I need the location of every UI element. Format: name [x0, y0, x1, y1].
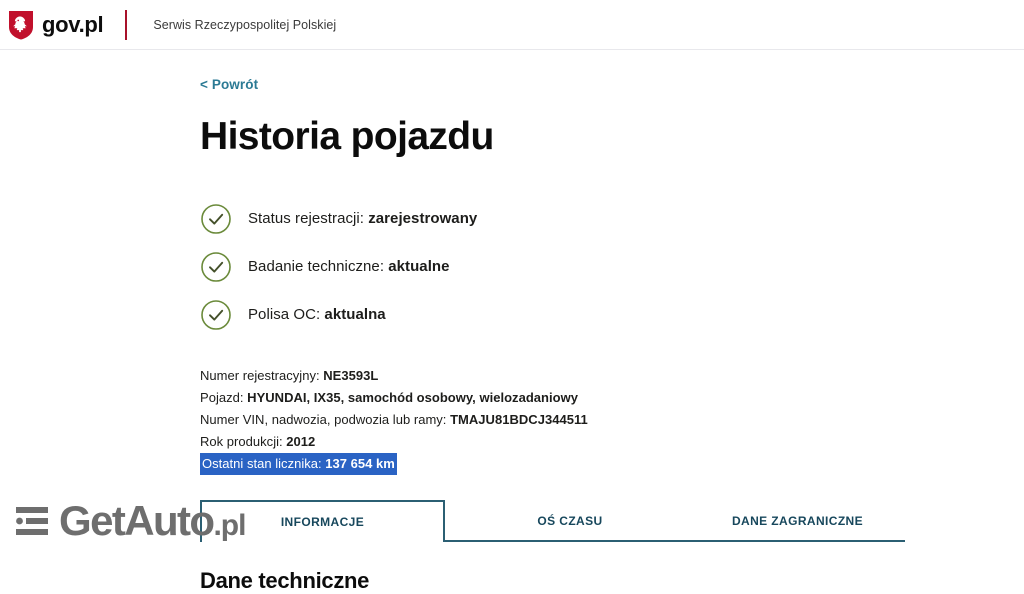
status-label: Polisa OC: — [248, 306, 320, 323]
tab-dane-zagraniczne[interactable]: DANE ZAGRANICZNE — [690, 500, 905, 542]
detail-label: Pojazd: — [200, 390, 244, 405]
gov-header: gov.pl Serwis Rzeczypospolitej Polskiej — [0, 0, 1024, 50]
detail-line-wrap: Pojazd: HYUNDAI, IX35, samochód osobowy,… — [200, 387, 1024, 409]
check-circle-icon — [200, 299, 232, 331]
check-circle-icon — [200, 251, 232, 283]
detail-line: Rok produkcji: 2012 — [200, 434, 315, 449]
detail-label: Numer rejestracyjny: — [200, 368, 320, 383]
tab-os-czasu[interactable]: OŚ CZASU — [480, 500, 660, 542]
header-subtitle: Serwis Rzeczypospolitej Polskiej — [153, 18, 336, 32]
status-row: Status rejestracji: zarejestrowany — [200, 195, 1024, 243]
polish-eagle-emblem-icon — [8, 10, 34, 40]
detail-label: Rok produkcji: — [200, 434, 283, 449]
detail-line-selected[interactable]: Ostatni stan licznika: 137 654 km — [200, 453, 397, 475]
detail-value: 137 654 km — [325, 456, 395, 471]
detail-line-wrap: Numer rejestracyjny: NE3593L — [200, 365, 1024, 387]
back-link[interactable]: < Powrót — [200, 77, 258, 92]
watermark-tld: .pl — [213, 509, 245, 542]
status-text: Status rejestracji: zarejestrowany — [248, 210, 477, 227]
check-circle-icon — [200, 203, 232, 235]
status-value: aktualne — [388, 258, 449, 275]
detail-line: Numer VIN, nadwozia, podwozia lub ramy: … — [200, 412, 588, 427]
gov-brand[interactable]: gov.pl — [8, 10, 103, 40]
status-label: Status rejestracji: — [248, 210, 364, 227]
status-text: Badanie techniczne: aktualne — [248, 258, 450, 275]
status-list: Status rejestracji: zarejestrowany Badan… — [200, 195, 1024, 339]
status-row: Polisa OC: aktualna — [200, 291, 1024, 339]
detail-value: HYUNDAI, IX35, samochód osobowy, wieloza… — [247, 390, 578, 405]
status-label: Badanie techniczne: — [248, 258, 384, 275]
detail-line: Pojazd: HYUNDAI, IX35, samochód osobowy,… — [200, 390, 578, 405]
page-content: < Powrót Historia pojazdu Status rejestr… — [0, 50, 1024, 475]
status-value: zarejestrowany — [368, 210, 477, 227]
detail-value: NE3593L — [323, 368, 378, 383]
detail-value: TMAJU81BDCJ344511 — [450, 412, 588, 427]
detail-label: Ostatni stan licznika: — [202, 456, 322, 471]
status-row: Badanie techniczne: aktualne — [200, 243, 1024, 291]
menu-bars-icon — [14, 504, 50, 538]
detail-line-wrap: Numer VIN, nadwozia, podwozia lub ramy: … — [200, 409, 1024, 431]
status-value: aktualna — [324, 306, 385, 323]
section-heading-partial: Dane techniczne — [200, 568, 369, 594]
detail-label: Numer VIN, nadwozia, podwozia lub ramy: — [200, 412, 446, 427]
page-title: Historia pojazdu — [200, 116, 1024, 159]
detail-line-wrap: Rok produkcji: 2012 — [200, 431, 1024, 453]
detail-value: 2012 — [286, 434, 315, 449]
detail-line: Numer rejestracyjny: NE3593L — [200, 368, 378, 383]
watermark-name: GetAuto — [59, 497, 213, 544]
vehicle-details: Numer rejestracyjny: NE3593L Pojazd: HYU… — [200, 365, 1024, 475]
getauto-watermark-text: GetAuto.pl — [59, 500, 245, 542]
gov-brand-name: gov.pl — [42, 14, 103, 36]
header-divider — [125, 10, 127, 40]
detail-line-wrap: Ostatni stan licznika: 137 654 km — [200, 453, 1024, 475]
getauto-watermark: GetAuto.pl — [14, 500, 245, 542]
tab-bar: INFORMACJE OŚ CZASU DANE ZAGRANICZNE — [200, 500, 905, 542]
status-text: Polisa OC: aktualna — [248, 306, 386, 323]
